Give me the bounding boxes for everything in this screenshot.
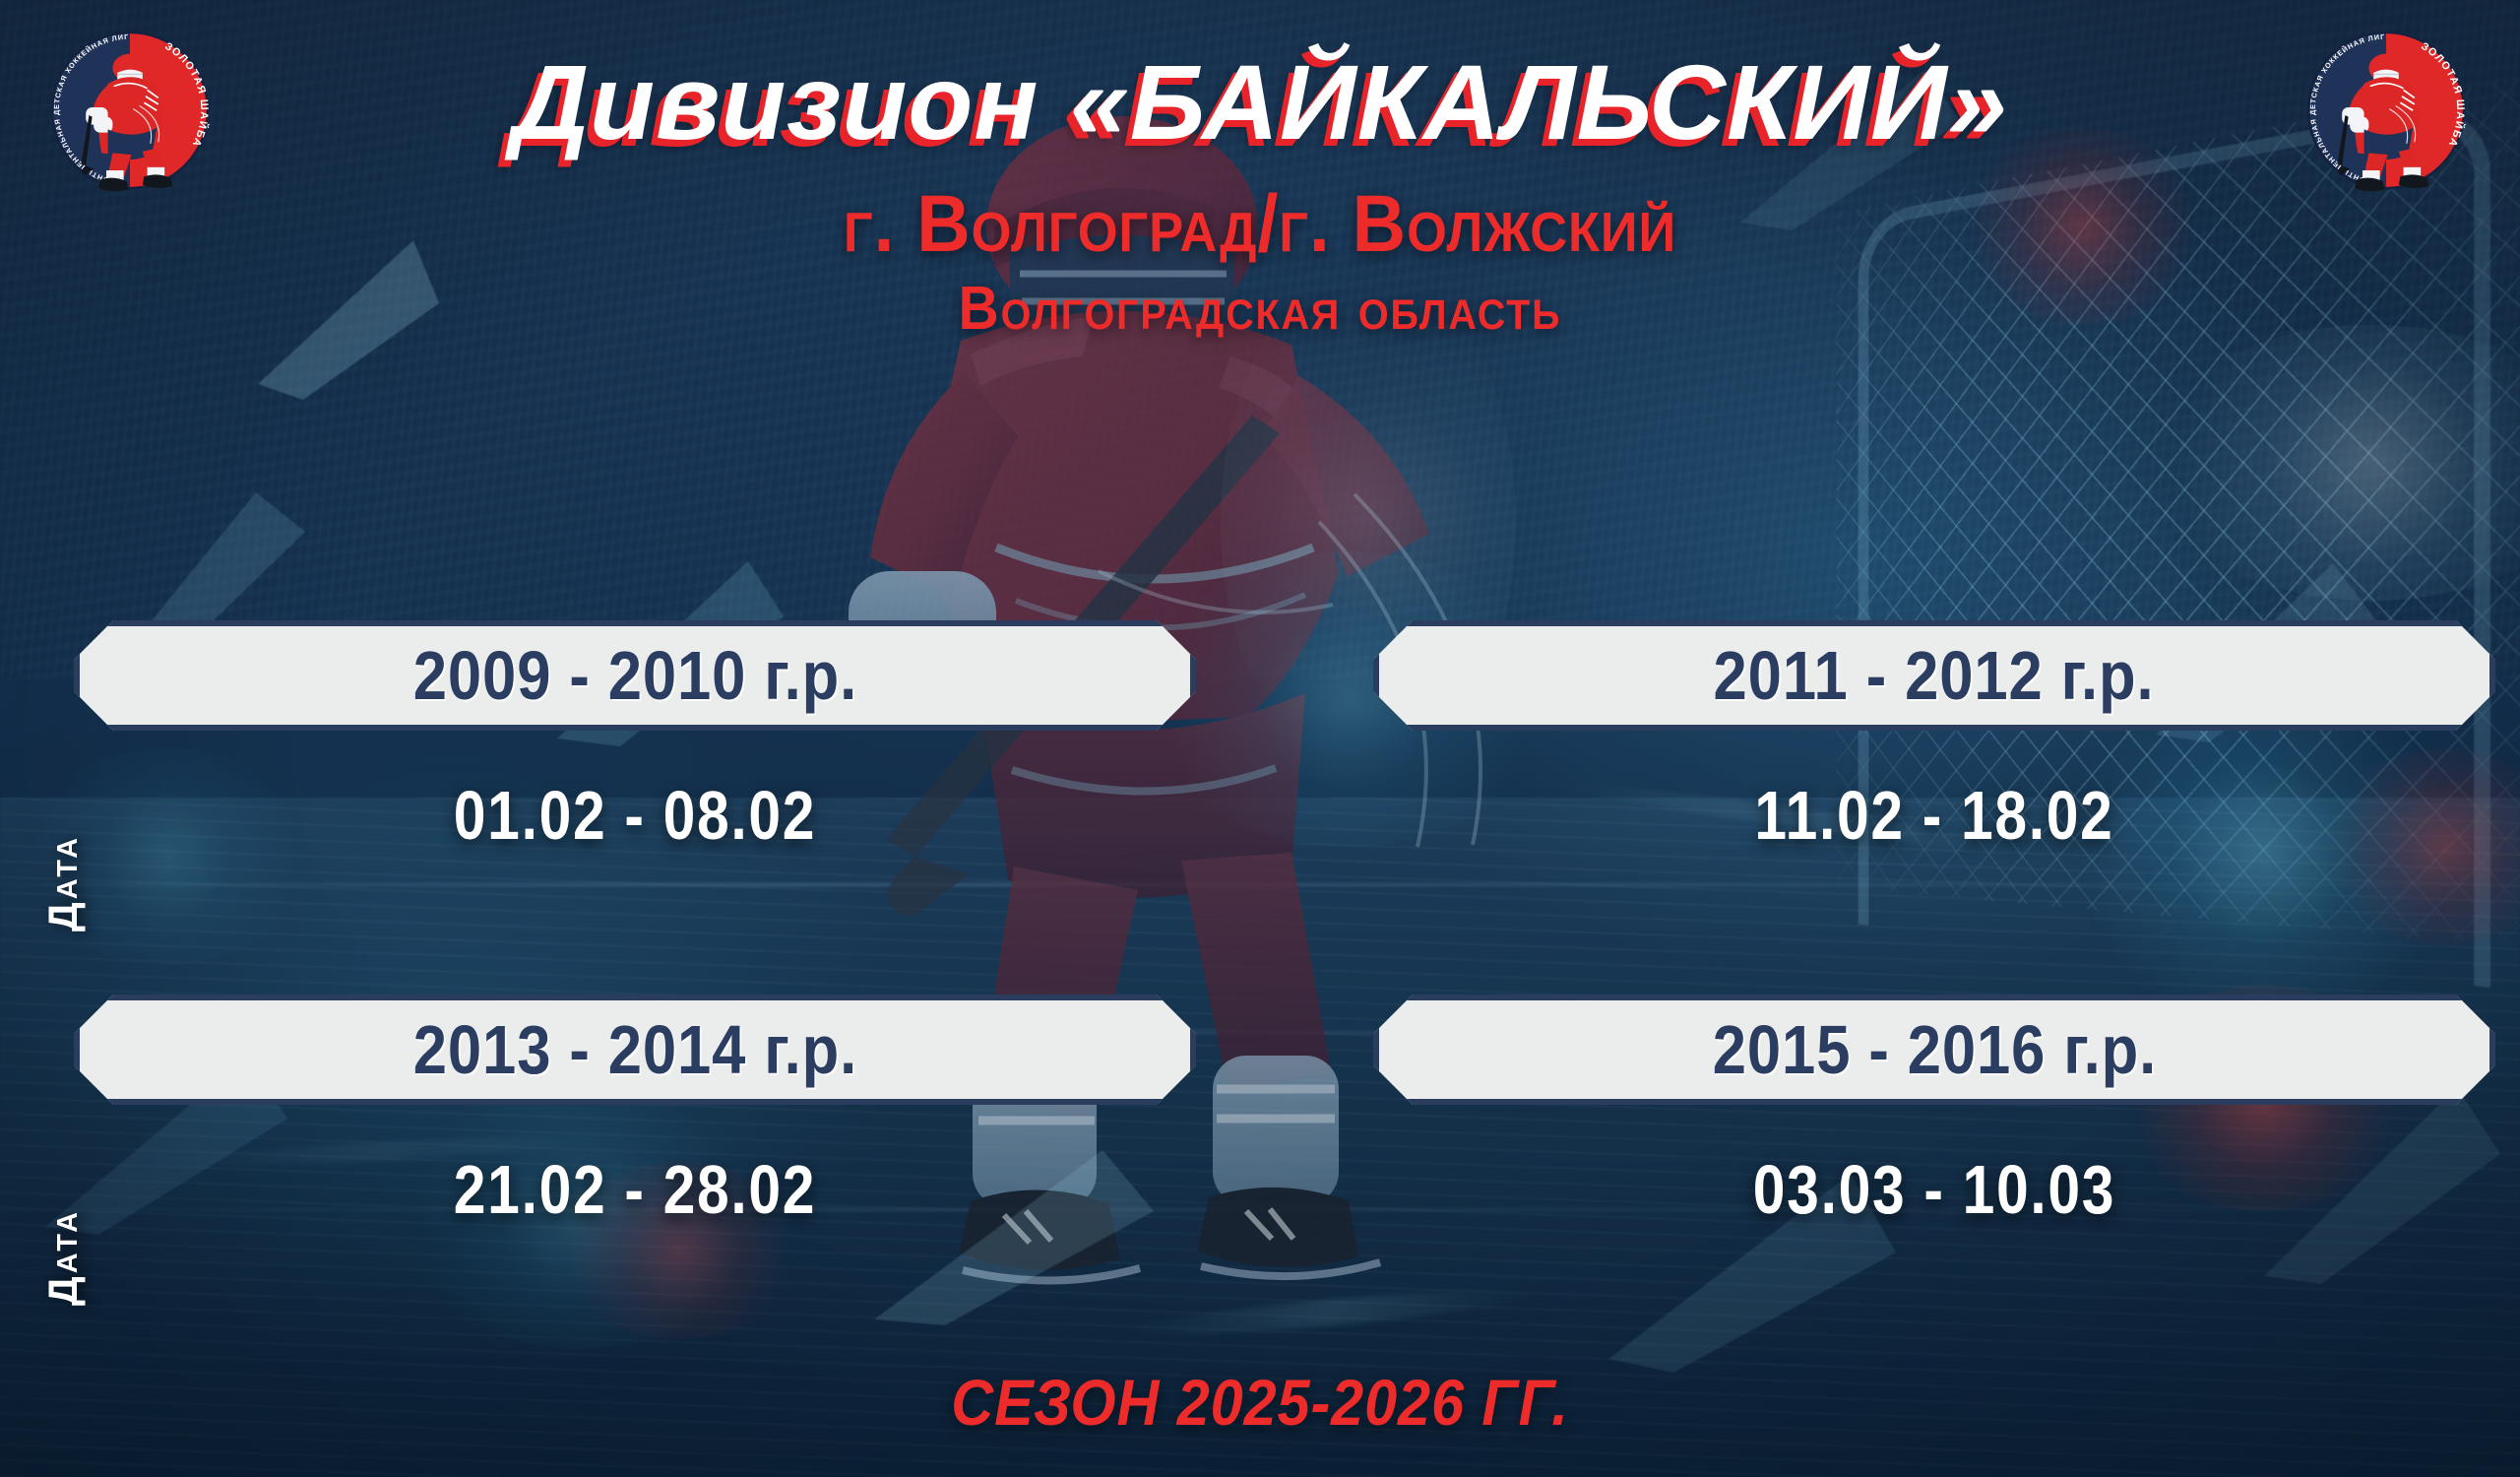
age-group-label: 2015 - 2016 г.р. [1712,1010,2156,1089]
age-group-card[interactable]: 2011 - 2012 г.р. 11.02 - 18.02 [1373,620,2495,855]
age-group-card[interactable]: 2009 - 2010 г.р. 01.02 - 08.02 [74,620,1196,855]
age-group-plate[interactable]: 2009 - 2010 г.р. [74,620,1196,731]
age-group-plate[interactable]: 2013 - 2014 г.р. [74,995,1196,1105]
age-group-grid: Дата 2009 - 2010 г.р. 01.02 - 08.02 2011… [0,620,2520,1369]
age-group-label: 2011 - 2012 г.р. [1714,636,2155,715]
age-group-plate[interactable]: 2015 - 2016 г.р. [1373,995,2495,1105]
age-group-dates: 03.03 - 10.03 [1463,1150,2406,1229]
region-subtitle: Волгоградская область [100,274,2419,344]
age-group-card[interactable]: 2013 - 2014 г.р. 21.02 - 28.02 [74,995,1196,1229]
season-footer: СЕЗОН 2025-2026 ГГ. [126,1365,2394,1440]
age-group-row: Дата 2013 - 2014 г.р. 21.02 - 28.02 2015… [0,995,2520,1369]
city-subtitle: г. Волгоград/г. Волжский [100,182,2419,267]
poster-root: ЗОЛОТАЯ ШАЙБА КОНТИНЕНТАЛЬНАЯ ДЕТСКАЯ ХО… [0,0,2520,1477]
age-group-label: 2013 - 2014 г.р. [412,1010,856,1089]
age-group-dates: 01.02 - 08.02 [163,776,1106,855]
page-title: Дивизион «БАЙКАЛЬСКИЙ» [0,47,2520,158]
age-group-dates: 21.02 - 28.02 [163,1150,1106,1229]
age-group-label: 2009 - 2010 г.р. [412,636,856,715]
age-group-dates: 11.02 - 18.02 [1463,776,2406,855]
age-group-plate[interactable]: 2011 - 2012 г.р. [1373,620,2495,731]
age-group-card[interactable]: 2015 - 2016 г.р. 03.03 - 10.03 [1373,995,2495,1229]
age-group-row: Дата 2009 - 2010 г.р. 01.02 - 08.02 2011… [0,620,2520,995]
